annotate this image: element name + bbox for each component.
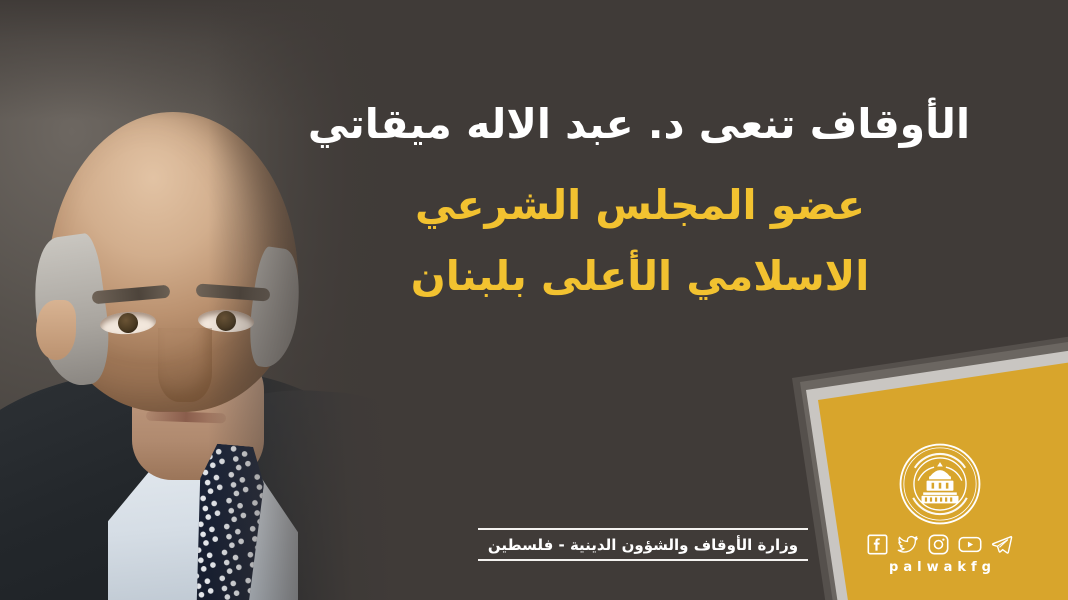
facebook-icon[interactable]	[867, 534, 888, 555]
caption-rule-bottom	[478, 559, 808, 561]
instagram-icon[interactable]	[928, 534, 949, 555]
headline-line-1: الأوقاف تنعى د. عبد الاله ميقاتي	[310, 104, 970, 145]
social-handle: palwakfg	[845, 560, 1035, 575]
headline-line-2: عضو المجلس الشرعي	[310, 185, 970, 226]
youtube-icon[interactable]	[958, 534, 982, 555]
telegram-icon[interactable]	[991, 534, 1013, 555]
headline-block: الأوقاف تنعى د. عبد الاله ميقاتي عضو الم…	[310, 104, 970, 297]
photo-right-fade	[0, 0, 400, 600]
headline-line-3: الاسلامي الأعلى بلبنان	[310, 256, 970, 297]
caption-text: وزارة الأوقاف والشؤون الدينية - فلسطين	[478, 530, 808, 559]
social-icons	[845, 532, 1035, 556]
portrait-photo	[0, 0, 400, 600]
announcement-card: الأوقاف تنعى د. عبد الاله ميقاتي عضو الم…	[0, 0, 1068, 600]
brand-block: palwakfg	[845, 442, 1035, 575]
footer-caption: وزارة الأوقاف والشؤون الدينية - فلسطين	[478, 528, 808, 561]
twitter-icon[interactable]	[897, 534, 919, 555]
ministry-of-awqaf-emblem	[898, 442, 982, 526]
